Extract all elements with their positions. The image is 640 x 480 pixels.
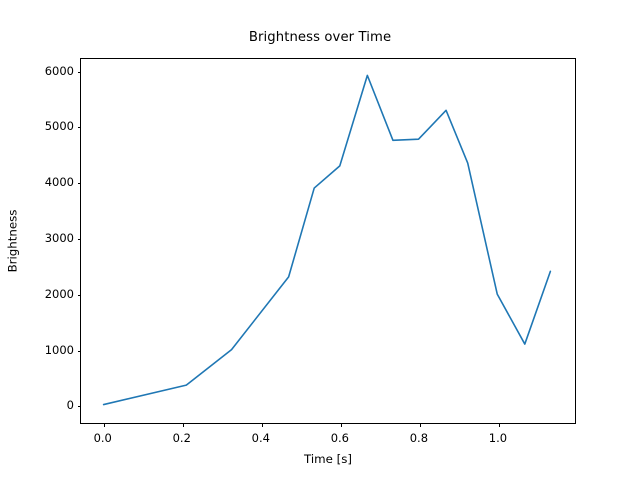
x-tick-mark: [341, 423, 342, 427]
y-tick-label: 4000: [24, 175, 74, 189]
plot-surface: [81, 59, 575, 423]
x-tick-mark: [499, 423, 500, 427]
y-tick-label: 3000: [24, 231, 74, 245]
y-tick-mark: [78, 183, 82, 184]
y-tick-mark: [78, 406, 82, 407]
y-tick-label: 2000: [24, 287, 74, 301]
x-tick-mark: [420, 423, 421, 427]
x-tick-mark: [104, 423, 105, 427]
y-tick-mark: [78, 239, 82, 240]
y-tick-label: 6000: [24, 64, 74, 78]
x-tick-label: 0.4: [252, 431, 270, 445]
y-tick-mark: [78, 295, 82, 296]
x-tick-label: 0.0: [94, 431, 112, 445]
y-axis-label: Brightness: [0, 58, 24, 424]
x-tick-label: 0.6: [331, 431, 349, 445]
x-tick-label: 1.0: [489, 431, 507, 445]
data-series-line: [104, 75, 551, 404]
x-tick-mark: [262, 423, 263, 427]
x-tick-label: 0.2: [173, 431, 191, 445]
x-tick-label: 0.8: [410, 431, 428, 445]
y-tick-label: 5000: [24, 119, 74, 133]
plot-axes: [80, 58, 576, 424]
y-tick-mark: [78, 127, 82, 128]
y-tick-label: 0: [24, 398, 74, 412]
figure-canvas: Brightness over Time Brightness Time [s]…: [0, 0, 640, 480]
y-tick-mark: [78, 351, 82, 352]
chart-title: Brightness over Time: [0, 30, 640, 45]
y-tick-label: 1000: [24, 343, 74, 357]
y-axis-label-text: Brightness: [5, 210, 19, 273]
x-axis-label: Time [s]: [80, 452, 576, 466]
x-tick-mark: [183, 423, 184, 427]
y-tick-mark: [78, 72, 82, 73]
